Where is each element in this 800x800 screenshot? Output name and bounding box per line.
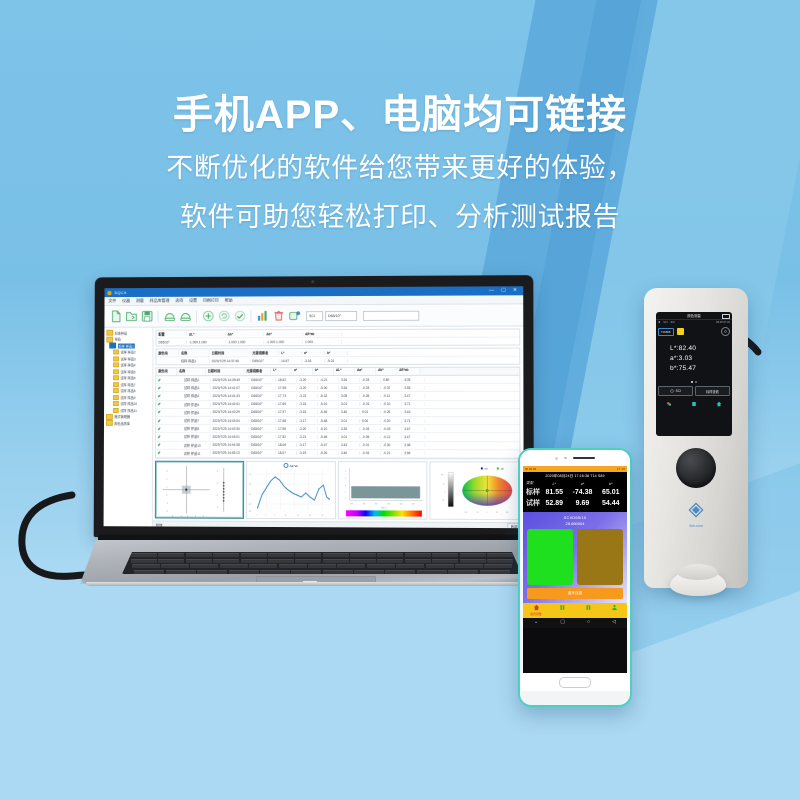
svg-text:3.5: 3.5 <box>249 504 251 506</box>
cell: 试样 样品5 <box>182 402 211 407</box>
svg-text:0: 0 <box>487 512 488 514</box>
svg-text:100: 100 <box>506 512 509 514</box>
cell: -0.01 <box>360 402 381 406</box>
measurement-table: 类型 L* a* b* 标样 81.55 -74.38 65.01 试样 52.… <box>526 481 624 510</box>
cell: -3.20 <box>297 378 318 382</box>
svg-text:13: 13 <box>297 515 299 517</box>
keyboard-key[interactable] <box>455 564 483 568</box>
laptop-front-lip <box>86 582 538 586</box>
table-row[interactable]: 试样 样品42020/7/25 14:41:33D65/10°17.73-3.2… <box>156 392 519 400</box>
keyboard-key[interactable] <box>432 553 458 557</box>
keyboard-row <box>122 553 522 557</box>
column-header: b* <box>313 368 334 375</box>
cell: 17.52 <box>276 435 297 439</box>
keyboard-key[interactable] <box>481 575 522 579</box>
leaf-icon <box>157 427 161 431</box>
table-row[interactable]: 试样 样品72020/7/25 14:43:04D65/10°17.68-3.1… <box>156 417 519 425</box>
app-body: 标准样品样品标样 样品1试样 样品2试样 样品3试样 样品4试样 样品5试样 样… <box>104 326 524 528</box>
tree-item-label: 试样 样品6 <box>120 375 135 380</box>
keyboard-key[interactable] <box>460 553 486 557</box>
chart-icon[interactable] <box>255 309 269 323</box>
cell: 18.06 <box>276 443 297 447</box>
svg-text:4.1: 4.1 <box>249 474 251 476</box>
tree-item-label: 颜色品质库 <box>114 421 130 426</box>
keyboard-key[interactable] <box>132 564 160 568</box>
device-screen-header: 颜色测量 <box>656 312 732 320</box>
tree-item-label: 试样 样品7 <box>120 382 135 387</box>
cell: 3.01 <box>339 402 360 406</box>
device-a-value: a*:3.03 <box>670 354 732 364</box>
standard-a: -74.38 <box>567 487 597 498</box>
cell: 3.54 <box>339 386 360 390</box>
device-view-standard-label: 标样查看 <box>706 389 719 394</box>
cell: 3.67 <box>402 427 425 431</box>
cell: 2020/7/25 14:39:49 <box>211 378 250 382</box>
book-icon[interactable] <box>691 401 697 407</box>
folder-icon <box>113 401 119 406</box>
cell: 3.38 <box>402 443 425 447</box>
keyboard-key[interactable] <box>197 570 227 574</box>
svg-text:0: 0 <box>445 491 446 493</box>
cell: -0.05 <box>360 435 381 439</box>
cell: 3.01 <box>339 419 360 423</box>
keyboard-key[interactable] <box>213 559 239 563</box>
cell: -4.21 <box>318 378 339 382</box>
svg-text:2: 2 <box>345 492 346 494</box>
app-statusbar: 就绪 数据 <box>153 520 524 528</box>
column-header: 日期时间 <box>206 368 245 375</box>
menu-item-0[interactable]: 文件 <box>108 298 116 304</box>
laptop: SQCX — ▢ ✕ 文件仪器测量样品库管理选项设置印刷打印帮助 <box>70 276 550 596</box>
keyboard-key[interactable] <box>166 570 196 574</box>
keyboard-key[interactable] <box>164 575 205 579</box>
keyboard-key[interactable] <box>213 553 239 557</box>
tolerance-panel: 配置ΔL*Δa*Δb*ΔE*ab D65/10°-1.000 1.000-1.0… <box>155 328 520 346</box>
app-logo-icon <box>107 291 111 295</box>
keyboard-key[interactable] <box>405 553 431 557</box>
brand-diamond-icon <box>688 502 704 518</box>
folder-icon <box>113 395 119 400</box>
standard-row: 标样 81.55 -74.38 65.01 <box>526 487 624 498</box>
svg-text:-50: -50 <box>442 500 444 502</box>
tree-item-label: 格式管理器 <box>114 414 130 419</box>
tab-color-measure[interactable]: 颜色测量 <box>523 603 549 616</box>
list-icon <box>559 604 566 611</box>
cell: 3.01 <box>339 435 360 439</box>
cell: -0.03 <box>360 451 381 455</box>
cell: -0.10 <box>381 402 402 406</box>
cell: -3.22 <box>297 394 318 398</box>
cell: 3.40 <box>339 410 360 414</box>
keyboard-key[interactable] <box>291 570 321 574</box>
home-icon[interactable] <box>716 401 722 407</box>
cell: 0.01 <box>360 410 381 414</box>
phone-home-button-area <box>520 673 630 691</box>
tree-item-label: 试样 样品11 <box>120 408 137 413</box>
tab-profile[interactable] <box>601 603 627 612</box>
keyboard-key[interactable] <box>426 564 454 568</box>
cell: 14.67 <box>279 359 302 363</box>
tab-records[interactable] <box>549 603 575 612</box>
table-row[interactable]: 试样 样品122020/7/25 14:45:47D65/10°18.07-3.… <box>156 458 519 460</box>
measure-condition: SCI/D65/10 <box>527 515 623 520</box>
svg-text:3: 3 <box>166 471 168 473</box>
leaf-icon <box>157 378 161 382</box>
keyboard-key[interactable] <box>432 559 458 563</box>
device-measure-knob[interactable] <box>676 448 716 488</box>
ab-scatter-chart[interactable]: 321 0-1-2 -2-10 12 310 -2 <box>155 461 244 519</box>
cell: 3.55 <box>402 386 425 390</box>
column-header: a* <box>302 351 325 355</box>
keyboard-key[interactable] <box>268 553 294 557</box>
keyboard-key[interactable] <box>438 575 479 579</box>
cell: -0.21 <box>381 451 402 455</box>
table-row[interactable]: 试样 样品52020/7/25 14:42:01D65/10°17.66-3.1… <box>156 401 519 409</box>
laptop-keyboard[interactable] <box>122 552 522 574</box>
keyboard-key[interactable] <box>158 559 184 563</box>
column-header: ΔE*ab <box>397 368 420 375</box>
swatch-sample <box>577 529 623 585</box>
legend-label: ΔE*ab <box>290 463 299 467</box>
cell: 试样 样品6 <box>182 410 211 415</box>
gear-icon[interactable] <box>721 327 730 336</box>
tree-item-14[interactable]: 颜色品质库 <box>106 420 151 426</box>
svg-text:500: 500 <box>375 503 378 505</box>
device-b-value: b*:75.47 <box>670 364 732 374</box>
search-input[interactable] <box>363 310 419 320</box>
keyboard-key[interactable] <box>460 559 486 563</box>
spectral-reflectance-chart[interactable]: 543 21 400450500 550600680 波长 nm <box>337 461 427 520</box>
device-sub-left: SCI <box>663 321 667 324</box>
folder-icon <box>113 362 119 367</box>
nav-recents-icon[interactable]: ▢ <box>560 620 565 625</box>
menu-item-7[interactable]: 帮助 <box>225 298 233 304</box>
table-row[interactable]: 试样 样品62020/7/25 14:42:29D65/10°17.97-3.1… <box>156 409 519 417</box>
keyboard-key[interactable] <box>295 553 321 557</box>
keyboard-key[interactable] <box>405 559 431 563</box>
cell: -0.01 <box>360 443 381 447</box>
charts-row: 321 0-1-2 -2-10 12 310 -2 <box>155 461 521 520</box>
leaf-icon <box>157 402 161 406</box>
laptop-deck <box>80 540 544 584</box>
folder-icon <box>113 382 119 387</box>
svg-text:2: 2 <box>166 479 168 481</box>
keyboard-key[interactable] <box>295 559 321 563</box>
keyboard-key[interactable] <box>377 559 403 563</box>
keyboard-key[interactable] <box>220 564 248 568</box>
svg-text:7: 7 <box>274 515 275 517</box>
cell: 0.80 <box>381 378 402 382</box>
phone-home-button[interactable] <box>559 677 591 688</box>
cell: 3.56 <box>402 451 425 455</box>
svg-text:16: 16 <box>309 515 311 517</box>
cell: D65/10° <box>249 378 276 382</box>
device-view-standard-button[interactable]: 标样查看 <box>695 386 730 396</box>
device-L-value: L*:82.40 <box>670 344 732 354</box>
keyboard-key[interactable] <box>134 570 164 574</box>
svg-text:10: 10 <box>284 515 286 517</box>
cell: -0.30 <box>381 443 402 447</box>
cell: 3.71 <box>402 419 425 423</box>
cell: -1.000 1.000 <box>187 340 226 344</box>
cell: -5.10 <box>318 402 339 406</box>
tolerance-value-row: D65/10°-1.000 1.000-1.000 1.000-1.000 1.… <box>156 338 519 346</box>
svg-text:3.7: 3.7 <box>249 494 251 496</box>
keyboard-key[interactable] <box>207 575 248 579</box>
window-minimize-button[interactable]: — <box>489 288 494 293</box>
keyboard-key[interactable] <box>480 570 510 574</box>
new-document-icon[interactable] <box>108 309 122 323</box>
bluetooth-icon <box>533 468 536 471</box>
device-brand-logo: 3nh.com <box>683 502 709 528</box>
sample-a: 9.69 <box>567 498 597 509</box>
cell: 17.95 <box>276 386 297 390</box>
leaf-icon <box>157 394 161 398</box>
keyboard-key[interactable] <box>241 559 267 563</box>
nav-back-down-icon[interactable]: ⌄ <box>534 620 538 625</box>
tree-item-label: 试样 样品2 <box>120 350 135 355</box>
delta-e-line-chart[interactable]: ΔE*ab <box>246 461 336 519</box>
tree-item-label: 试样 样品10 <box>120 401 137 406</box>
column-header: 配置 <box>156 331 187 336</box>
cell: -5.48 <box>318 419 339 423</box>
mode-select[interactable]: SCI <box>306 311 323 321</box>
cell: 2020/7/25 14:45:13 <box>210 451 249 455</box>
column-header: 颜色块 <box>156 368 177 375</box>
cell: -5.00 <box>318 386 339 390</box>
svg-text:550: 550 <box>387 503 390 505</box>
svg-text:1: 1 <box>166 487 168 489</box>
keyboard-key[interactable] <box>350 559 376 563</box>
tree-item-label: 试样 样品5 <box>120 369 135 374</box>
cell: -3.16 <box>302 359 325 363</box>
keyboard-key[interactable] <box>161 564 189 568</box>
cell: D65/10° <box>249 419 276 423</box>
device-body: 颜色测量 ✱ SCI SCI 08-25 07:31 T00808 <box>644 288 748 588</box>
phone-screen: 17:16 2020年08月24日 17:16:38 T14 S89 类型 L*… <box>523 466 627 673</box>
front-camera-icon <box>564 457 567 460</box>
keyboard-key[interactable] <box>417 570 447 574</box>
menu-item-5[interactable]: 设置 <box>189 298 197 304</box>
check-icon[interactable] <box>233 309 247 323</box>
sample-b: 54.44 <box>597 498 624 509</box>
keyboard-key[interactable] <box>377 553 403 557</box>
cell: 3.43 <box>339 443 360 447</box>
keyboard-key[interactable] <box>186 559 212 563</box>
wifi-icon <box>529 468 532 471</box>
svg-text:标样: 标样 <box>485 467 488 470</box>
keyboard-key[interactable] <box>487 559 513 563</box>
keyboard-key[interactable] <box>448 570 478 574</box>
page-dot-active[interactable] <box>691 381 693 383</box>
svg-text:2: 2 <box>203 516 205 518</box>
keyboard-key[interactable] <box>131 553 157 557</box>
tab-reports[interactable] <box>575 603 601 612</box>
keyboard-key[interactable] <box>241 553 267 557</box>
keyboard-key[interactable] <box>122 575 163 579</box>
keyboard-key[interactable] <box>323 570 353 574</box>
cell: 2020/7/25 14:42:29 <box>211 410 250 414</box>
column-header: ΔE*ab <box>303 332 342 336</box>
laptop-base <box>70 534 550 592</box>
spectrophotometer-device: 颜色测量 ✱ SCI SCI 08-25 07:31 T00808 <box>636 288 760 618</box>
keyboard-key[interactable] <box>350 553 376 557</box>
cell: 3.05 <box>339 394 360 398</box>
svg-text:50: 50 <box>443 483 445 485</box>
table-row[interactable]: 试样 样品32020/7/25 14:41:07D65/10°17.95-3.2… <box>156 384 519 392</box>
keyboard-key[interactable] <box>396 575 437 579</box>
device-mode-label: SCI <box>676 389 681 393</box>
cell: D65/10° <box>249 410 276 414</box>
keyboard-key[interactable] <box>385 570 415 574</box>
cell: 3.71 <box>402 402 425 406</box>
delete-icon[interactable] <box>271 309 285 323</box>
keyboard-key[interactable] <box>308 564 336 568</box>
device-color-swatch <box>677 328 684 335</box>
tab-color-measure-label: 颜色测量 <box>530 612 541 616</box>
export-icon[interactable] <box>287 309 301 323</box>
standard-sample-panel: 颜色块名称日期时间光源观察者L*a*b* 标样 样品12020/7/25 14:… <box>155 348 520 366</box>
measure-standard-icon[interactable] <box>162 309 176 323</box>
svg-text:3.9: 3.9 <box>249 484 251 486</box>
column-header: L* <box>279 351 302 355</box>
tree-item-label: 试样 样品8 <box>120 388 135 393</box>
keyboard-key[interactable] <box>323 559 349 563</box>
column-header: Δb* <box>264 332 303 336</box>
window-close-button[interactable]: ✕ <box>513 288 517 293</box>
cell: -0.12 <box>381 435 402 439</box>
svg-text:-100: -100 <box>464 512 467 514</box>
keyboard-key[interactable] <box>487 553 513 557</box>
device-mode-button[interactable]: SCI <box>658 386 693 396</box>
cell: 试样 样品9 <box>182 434 211 439</box>
svg-text:4: 4 <box>345 478 346 480</box>
nav-back-icon[interactable]: ◁ <box>612 620 616 625</box>
device-brand-text: 3nh.com <box>683 524 709 528</box>
cell: -5.32 <box>318 394 339 398</box>
sample-tree[interactable]: 标准样品样品标样 样品1试样 样品2试样 样品3试样 样品4试样 样品5试样 样… <box>104 328 154 529</box>
samples-grid[interactable]: 颜色块名称日期时间光源观察者L*a*b*ΔL*Δa*Δb*ΔE*ab 试样 样品… <box>155 367 520 460</box>
keyboard-key[interactable] <box>229 570 259 574</box>
cell: 2020/7/25 14:41:07 <box>211 386 250 390</box>
keyboard-key[interactable] <box>354 570 384 574</box>
tree-item-label: 试样 样品4 <box>120 363 135 368</box>
cell: 2020/7/25 14:41:33 <box>211 394 250 398</box>
add-icon[interactable] <box>201 309 215 323</box>
standard-b: 65.01 <box>597 487 624 498</box>
menu-item-6[interactable]: 印刷打印 <box>203 298 219 304</box>
measurement-datetime: 2020年08月24日 17:16:38 T14 S89 <box>526 474 624 479</box>
save-icon[interactable] <box>140 309 154 323</box>
window-maximize-button[interactable]: ▢ <box>501 288 506 293</box>
keyboard-key[interactable] <box>396 564 424 568</box>
device-chip-row: T00808 <box>656 325 732 338</box>
cell: D65/10° <box>249 443 276 447</box>
table-row[interactable]: 试样 样品22020/7/25 14:39:49D65/10°18.62-3.2… <box>156 376 519 385</box>
cell: -5.30 <box>318 451 339 455</box>
keyboard-key[interactable] <box>260 570 290 574</box>
menu-item-2[interactable]: 测量 <box>136 298 144 304</box>
measure-sample-icon[interactable] <box>178 309 192 323</box>
phone-tabbar: 颜色测量 <box>523 603 627 618</box>
svg-text:-2: -2 <box>166 510 168 512</box>
device-aperture-ring <box>678 564 718 580</box>
folder-icon <box>106 330 113 336</box>
phone-earpiece-area <box>520 450 630 466</box>
samples-grid-body[interactable]: 试样 样品22020/7/25 14:39:49D65/10°18.62-3.2… <box>156 376 519 460</box>
nav-home-icon[interactable]: ○ <box>587 620 590 625</box>
cell: -0.03 <box>360 378 381 382</box>
keyboard-key[interactable] <box>337 564 365 568</box>
toolbar-separator <box>196 310 197 322</box>
open-folder-icon[interactable] <box>124 309 138 323</box>
standard-value-row[interactable]: 标样 样品12020/7/25 14:37:46D65/10°14.67-3.1… <box>156 357 519 365</box>
person-icon <box>611 604 618 611</box>
chromaticity-diagram-chart[interactable]: 标样 试样 -100-50 050100 10 <box>430 461 521 520</box>
cell: -0.37 <box>381 386 402 390</box>
color-comparison-panel: SCI/D65/10 28.660004 蓝牙连接 <box>523 512 627 603</box>
headline-title: 手机APP、电脑均可链接 <box>0 92 800 139</box>
illuminant-select[interactable]: D65/10° <box>325 310 357 320</box>
folder-icon <box>113 369 119 374</box>
keyboard-key[interactable] <box>249 564 277 568</box>
palette-icon[interactable] <box>666 401 672 407</box>
keyboard-key[interactable] <box>186 553 212 557</box>
cell: -0.03 <box>360 427 381 431</box>
svg-text:400: 400 <box>350 503 353 505</box>
refresh-icon[interactable] <box>217 309 231 323</box>
keyboard-key[interactable] <box>279 564 307 568</box>
column-header: Δb* <box>376 368 397 375</box>
bluetooth-connect-button[interactable]: 蓝牙连接 <box>527 588 623 599</box>
cell: D65/10° <box>249 427 276 431</box>
tree-item-label: 样品 <box>115 337 121 342</box>
headline-block: 手机APP、电脑均可链接 不断优化的软件给您带来更好的体验， 软件可助您轻松打印… <box>0 92 800 236</box>
keyboard-key[interactable] <box>367 564 395 568</box>
keyboard-key[interactable] <box>131 559 157 563</box>
column-header: L* <box>271 368 292 375</box>
headline-sub-line1: 不断优化的软件给您带来更好的体验， <box>0 149 800 187</box>
column-header: 光源观察者 <box>244 368 271 375</box>
menu-item-1[interactable]: 仪器 <box>122 298 130 304</box>
swatch-pair <box>527 529 623 585</box>
cell: -5.46 <box>318 410 339 414</box>
column-header: ΔL* <box>187 332 226 336</box>
cell: 2020/7/25 14:44:38 <box>210 443 249 447</box>
svg-text:0: 0 <box>217 495 219 497</box>
home-icon <box>533 604 540 611</box>
menu-item-3[interactable]: 样品库管理 <box>150 298 170 304</box>
keyboard-key[interactable] <box>190 564 218 568</box>
device-sample-chip[interactable]: T00808 <box>658 328 674 336</box>
battery-icon <box>722 314 730 319</box>
cell: 18.07 <box>276 451 297 455</box>
cell: 0.00 <box>360 419 381 423</box>
cell: 17.68 <box>276 419 297 423</box>
cell: 试样 样品2 <box>182 377 211 382</box>
keyboard-key[interactable] <box>268 559 294 563</box>
app-toolbar: SCI D65/10° <box>104 304 523 327</box>
svg-text:1: 1 <box>256 515 257 517</box>
menu-item-4[interactable]: 选项 <box>175 298 183 304</box>
svg-text:1: 1 <box>345 498 346 500</box>
keyboard-key[interactable] <box>323 553 349 557</box>
cell: -5.46 <box>318 435 339 439</box>
sample-row: 试样 52.89 9.69 54.44 <box>526 498 624 509</box>
keyboard-key[interactable] <box>158 553 184 557</box>
cell: 2020/7/25 14:37:46 <box>210 359 251 363</box>
keyboard-key[interactable] <box>484 564 512 568</box>
